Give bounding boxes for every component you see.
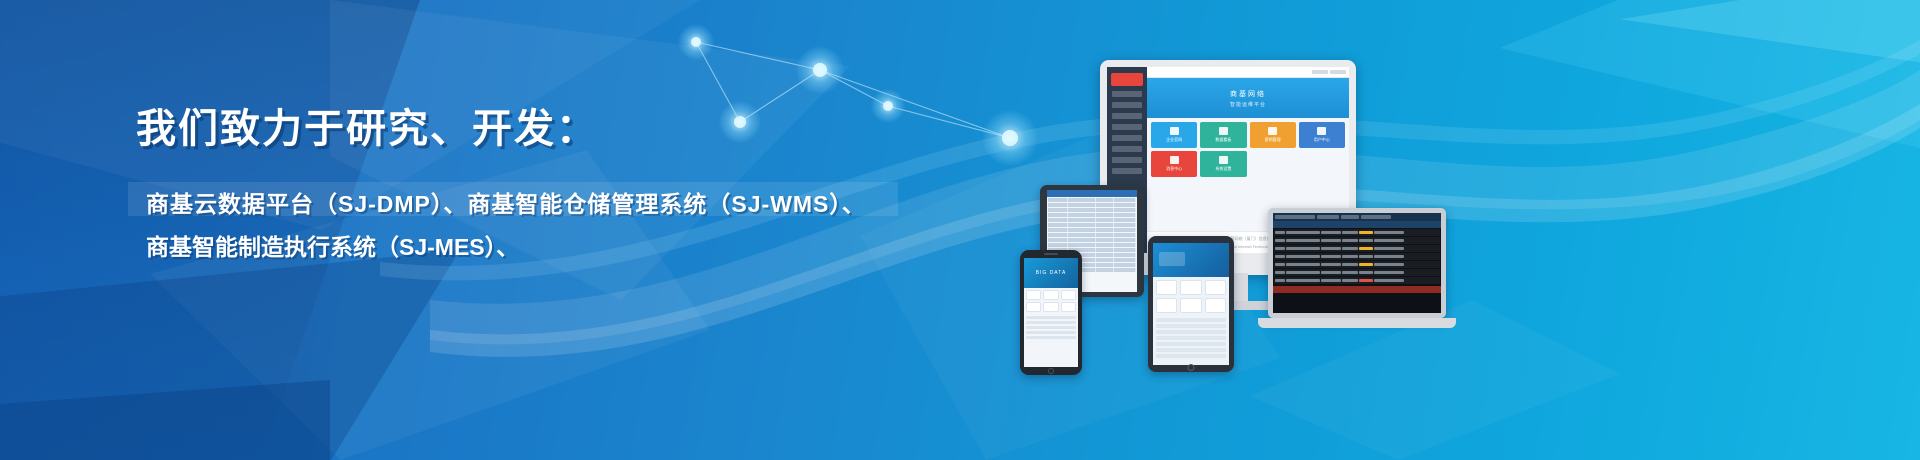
phone-list (1024, 314, 1078, 343)
tile-label: 消息中心 (1166, 166, 1182, 172)
table-row[interactable] (1274, 237, 1440, 244)
phone-tile-grid (1024, 288, 1078, 314)
sidebar-item[interactable] (1112, 124, 1142, 130)
search-icon[interactable] (1312, 70, 1328, 74)
dmp-tile[interactable] (1180, 298, 1201, 313)
tile-icon (1268, 127, 1277, 135)
tile-label: 数据看板 (1215, 137, 1231, 143)
tile-label: 营销管理 (1265, 137, 1281, 143)
sidebar-item[interactable] (1112, 168, 1142, 174)
dashboard-tile[interactable]: 消息中心 (1151, 151, 1197, 177)
banner-copy: 我们致力于研究、开发： 商基云数据平台（SJ-DMP）、商基智能仓储管理系统（S… (0, 0, 980, 460)
mes-titlebar (1273, 213, 1441, 221)
tablet-portrait-screen (1153, 243, 1229, 365)
dmp-tile-grid (1153, 277, 1229, 316)
list-item[interactable] (1048, 243, 1136, 247)
laptop-screen (1273, 213, 1441, 313)
mes-table-header (1273, 221, 1441, 228)
speaker-icon (1044, 253, 1058, 255)
list-item[interactable] (1026, 316, 1076, 319)
table-row[interactable] (1274, 269, 1440, 276)
dmp-tile[interactable] (1156, 298, 1177, 313)
list-item[interactable] (1026, 326, 1076, 329)
sidebar-item[interactable] (1112, 146, 1142, 152)
tile-icon (1170, 127, 1179, 135)
list-item[interactable] (1156, 330, 1226, 334)
hero-banner: 我们致力于研究、开发： 商基云数据平台（SJ-DMP）、商基智能仓储管理系统（S… (0, 0, 1920, 460)
user-menu-icon[interactable] (1330, 70, 1346, 74)
tablet-portrait-mockup (1148, 236, 1234, 372)
phone-tile[interactable] (1043, 290, 1058, 300)
dmp-tile[interactable] (1156, 280, 1177, 295)
sidebar-item[interactable] (1112, 102, 1142, 108)
phone-tile[interactable] (1043, 302, 1058, 312)
product-line-2: 商基智能制造执行系统（SJ-MES）、 (146, 228, 519, 262)
dmp-tile[interactable] (1205, 280, 1226, 295)
tile-icon (1317, 127, 1326, 135)
dmp-tile[interactable] (1205, 298, 1226, 313)
mes-table-footer (1273, 286, 1441, 293)
list-item[interactable] (1156, 324, 1226, 328)
list-item[interactable] (1156, 336, 1226, 340)
dmp-tile[interactable] (1180, 280, 1201, 295)
dashboard-topbar[interactable] (1147, 67, 1349, 78)
list-item[interactable] (1048, 233, 1136, 237)
dmp-hero (1153, 243, 1229, 277)
tile-icon (1170, 156, 1179, 164)
tile-label: 用户中心 (1314, 137, 1330, 143)
table-row[interactable] (1274, 253, 1440, 260)
dmp-list (1153, 316, 1229, 362)
laptop-lid (1268, 208, 1446, 318)
mes-table-body (1273, 228, 1441, 286)
dashboard-tile[interactable]: 数据看板 (1200, 122, 1246, 148)
list-item[interactable] (1048, 208, 1136, 212)
hero-title: 商基网络 (1230, 89, 1266, 99)
product-line-1: 商基云数据平台（SJ-DMP）、商基智能仓储管理系统（SJ-WMS）、 (146, 185, 866, 219)
phone-hero: BIG DATA (1024, 258, 1078, 288)
laptop-base (1258, 318, 1456, 328)
home-button-icon[interactable] (1048, 368, 1054, 374)
list-item[interactable] (1156, 348, 1226, 352)
list-item[interactable] (1156, 354, 1226, 358)
list-item[interactable] (1026, 321, 1076, 324)
table-row[interactable] (1274, 229, 1440, 236)
dashboard-hero: 商基网络 智能运维平台 (1147, 78, 1349, 118)
phone-tile[interactable] (1026, 302, 1041, 312)
phone-hero-title: BIG DATA (1036, 270, 1067, 276)
phone-mockup: BIG DATA (1020, 250, 1082, 375)
list-item[interactable] (1048, 198, 1136, 202)
tile-label: 企业官网 (1166, 137, 1182, 143)
sidebar-item[interactable] (1112, 113, 1142, 119)
list-item[interactable] (1048, 218, 1136, 222)
list-item[interactable] (1026, 336, 1076, 339)
list-item[interactable] (1048, 223, 1136, 227)
laptop-mockup (1258, 208, 1456, 336)
sidebar-item[interactable] (1112, 135, 1142, 141)
sidebar-item[interactable] (1112, 91, 1142, 97)
phone-tile[interactable] (1026, 290, 1041, 300)
phone-tile[interactable] (1061, 290, 1076, 300)
sidebar-item[interactable] (1112, 157, 1142, 163)
tile-icon (1219, 127, 1228, 135)
device-mockups: 商基网络 智能运维平台 企业官网 数据看板 (1000, 40, 1560, 460)
list-item[interactable] (1026, 331, 1076, 334)
dashboard-tile[interactable]: 营销管理 (1250, 122, 1296, 148)
list-item[interactable] (1156, 342, 1226, 346)
page-title: 我们致力于研究、开发： (136, 96, 598, 154)
list-item[interactable] (1048, 228, 1136, 232)
table-row[interactable] (1274, 261, 1440, 268)
tile-icon (1219, 156, 1228, 164)
phone-screen: BIG DATA (1024, 258, 1078, 367)
tile-label: 系统设置 (1215, 166, 1231, 172)
dashboard-tile[interactable]: 企业官网 (1151, 122, 1197, 148)
table-row[interactable] (1274, 245, 1440, 252)
hero-subtitle: 智能运维平台 (1230, 101, 1266, 108)
dashboard-tile[interactable]: 用户中心 (1299, 122, 1345, 148)
table-row[interactable] (1274, 277, 1440, 284)
dashboard-tile[interactable]: 系统设置 (1200, 151, 1246, 177)
list-item[interactable] (1048, 238, 1136, 242)
list-item[interactable] (1048, 213, 1136, 217)
home-button-icon[interactable] (1188, 364, 1195, 371)
brand-logo-icon (1111, 73, 1143, 86)
report-header (1047, 190, 1137, 197)
list-item[interactable] (1156, 318, 1226, 322)
list-item[interactable] (1048, 203, 1136, 207)
phone-tile[interactable] (1061, 302, 1076, 312)
